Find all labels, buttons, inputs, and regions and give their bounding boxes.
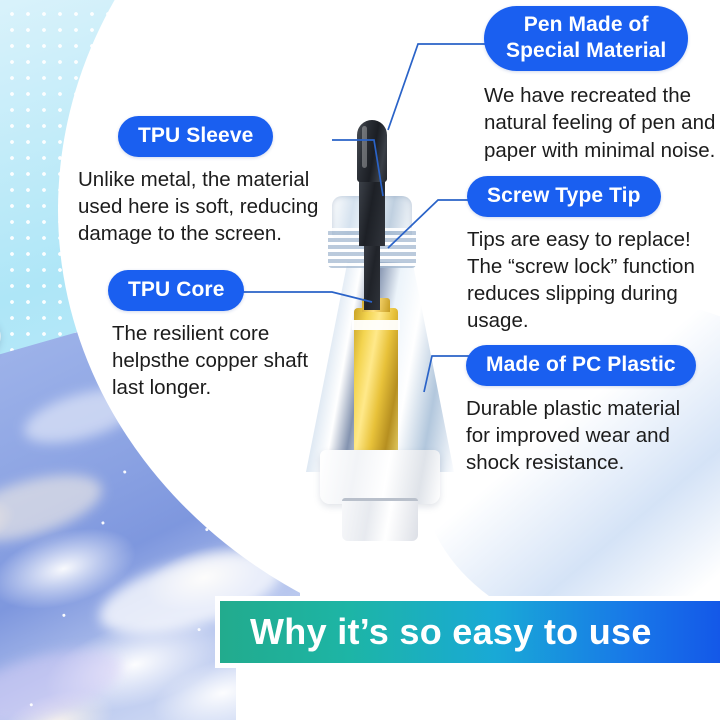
callout-body-pen-material: We have recreated the natural feeling of…	[484, 82, 716, 164]
white-plastic-ferrule	[342, 498, 418, 541]
callout-body-tpu-core: The resilient core helpsthe copper shaft…	[112, 320, 352, 402]
white-plastic-base	[320, 450, 440, 504]
callout-tpu-sleeve: TPU Sleeve Unlike metal, the material us…	[118, 116, 388, 247]
gold-shaft-band	[352, 320, 400, 330]
callout-title-tpu-core[interactable]: TPU Core	[108, 270, 244, 311]
callout-title-pc-plastic[interactable]: Made of PC Plastic	[466, 345, 696, 386]
callout-body-tpu-sleeve: Unlike metal, the material used here is …	[78, 166, 383, 248]
bottom-banner: Why it’s so easy to use	[220, 601, 720, 663]
bottom-banner-text: Why it’s so easy to use	[250, 611, 652, 653]
callout-body-screw-type-tip: Tips are easy to replace! The “screw loc…	[467, 226, 719, 335]
gold-copper-shaft	[354, 308, 398, 458]
callout-tpu-core: TPU Core The resilient core helpsthe cop…	[108, 270, 352, 401]
infographic-canvas: Pen Made of Special Material We have rec…	[0, 0, 720, 720]
callout-screw-type-tip: Screw Type Tip Tips are easy to replace!…	[467, 176, 719, 335]
callout-title-tpu-sleeve[interactable]: TPU Sleeve	[118, 116, 273, 157]
bottom-banner-frame: Why it’s so easy to use	[215, 596, 720, 668]
tpu-core-shank-lower	[364, 240, 380, 310]
callout-pen-material: Pen Made of Special Material We have rec…	[484, 6, 716, 164]
callout-title-screw-type-tip[interactable]: Screw Type Tip	[467, 176, 661, 217]
callout-title-pen-material[interactable]: Pen Made of Special Material	[484, 6, 688, 71]
callout-body-pc-plastic: Durable plastic material for improved we…	[466, 395, 716, 477]
callout-pc-plastic: Made of PC Plastic Durable plastic mater…	[466, 345, 716, 476]
